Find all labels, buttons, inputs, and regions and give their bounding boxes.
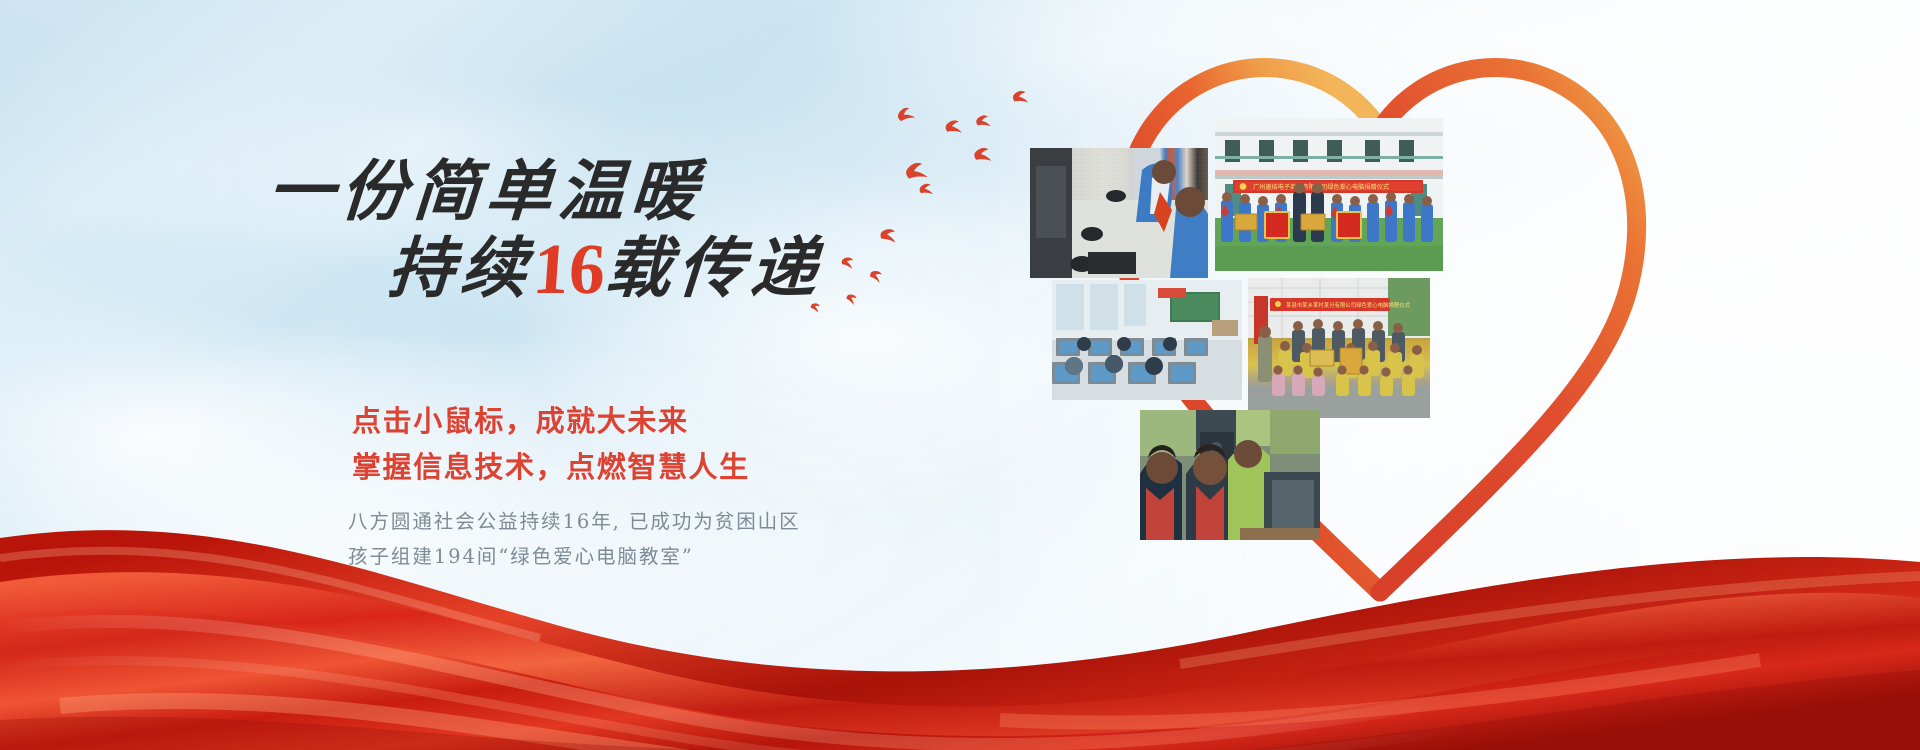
- photo-detail-overlay: [1052, 280, 1242, 400]
- photo-computer-lab-row: [1030, 148, 1208, 278]
- headline-line-2-suffix: 载传递: [603, 229, 826, 307]
- charity-banner: 广州遨结电子商务有限公司绿色爱心电脑捐赠仪式: [0, 0, 1920, 750]
- svg-text:某县市某乡某村某分有限公司绿色爱心电脑捐赠仪式: 某县市某乡某村某分有限公司绿色爱心电脑捐赠仪式: [1286, 301, 1411, 309]
- photo-classroom-computers: [1052, 280, 1242, 400]
- headline-line-2-prefix: 持续: [385, 229, 536, 307]
- headline-line-2: 持续16载传递: [385, 233, 825, 305]
- photo-detail-overlay: [1030, 148, 1208, 278]
- photo-detail-overlay: 广州遨结电子商务有限公司绿色爱心电脑捐赠仪式: [1215, 118, 1443, 271]
- headline-years-number: 16: [530, 229, 608, 309]
- red-silk-ribbon: [0, 420, 1920, 750]
- silk-wave-icon: [0, 420, 1920, 750]
- photo-school-group: 广州遨结电子商务有限公司绿色爱心电脑捐赠仪式: [1215, 118, 1443, 271]
- photo-group-yellow-uniform: 某县市某乡某村某分有限公司绿色爱心电脑捐赠仪式: [1248, 278, 1430, 418]
- headline-line-1: 一份简单温暖: [266, 158, 706, 224]
- photo-detail-overlay: 某县市某乡某村某分有限公司绿色爱心电脑捐赠仪式: [1248, 278, 1430, 418]
